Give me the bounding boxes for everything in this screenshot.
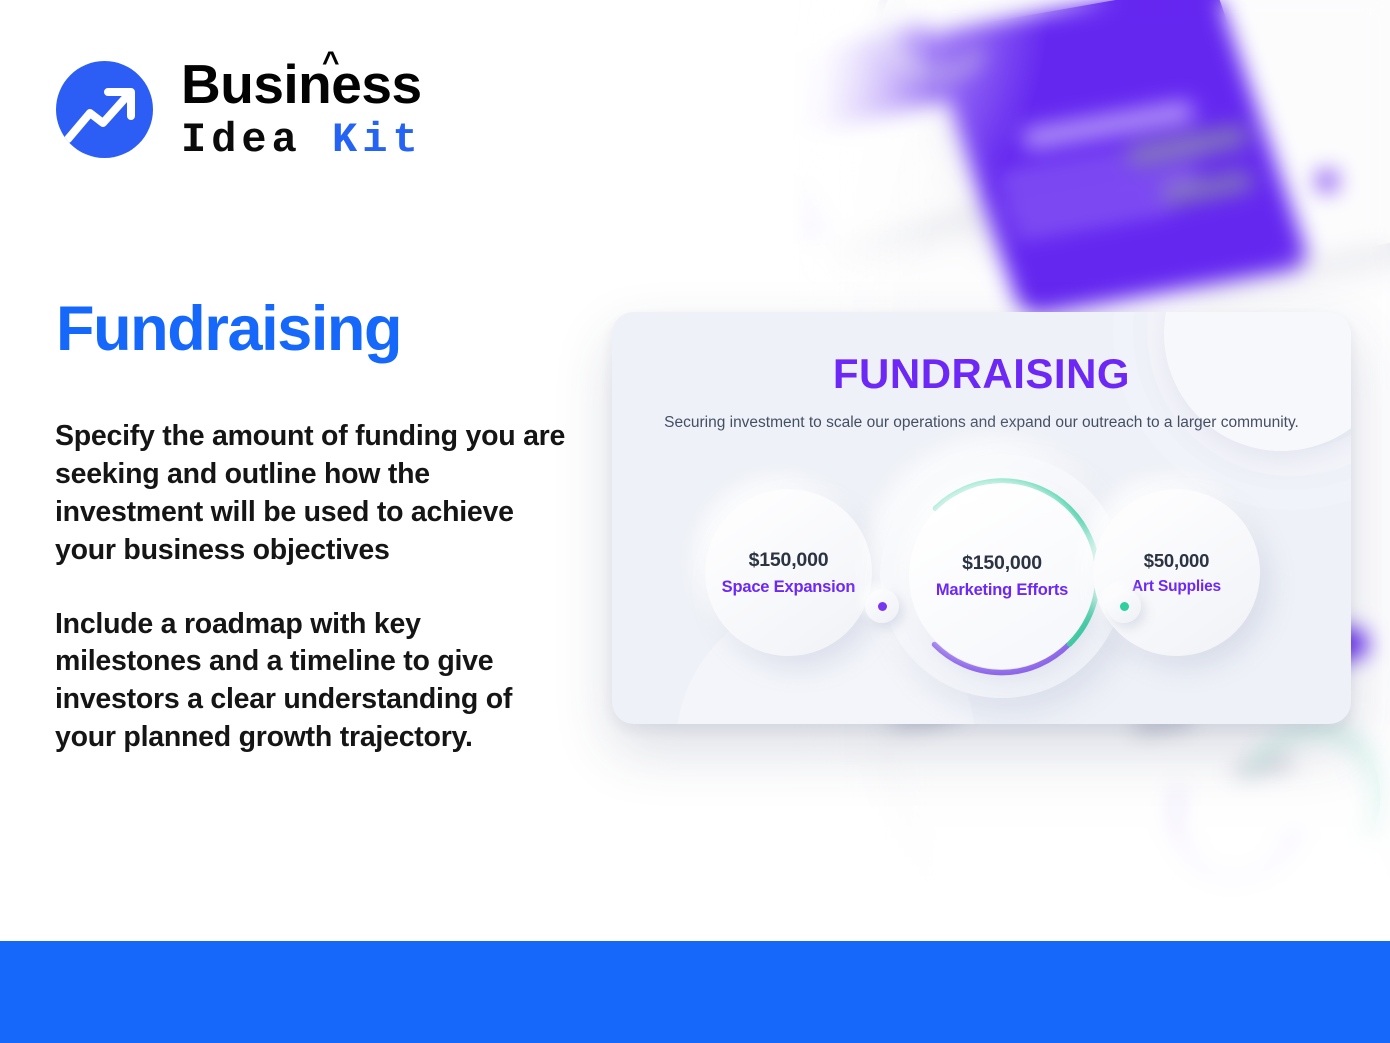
funding-label: Marketing Efforts	[936, 581, 1068, 600]
funding-item-right[interactable]: $50,000 Art Supplies	[1093, 489, 1260, 656]
brand-name-top: Business ^	[181, 57, 423, 112]
brand-name-kit: Kit	[332, 116, 423, 164]
funding-amount: $150,000	[962, 552, 1042, 575]
funding-amount: $150,000	[749, 549, 829, 572]
connector-node-left	[865, 589, 899, 623]
page-title: Fundraising	[56, 296, 401, 362]
brand-name-bottom: Idea Kit	[181, 119, 423, 161]
slide-page: Business ^ Idea Kit Fundraising Specify …	[0, 0, 1390, 1043]
funding-item-center[interactable]: $150,000 Marketing Efforts	[880, 454, 1124, 698]
paragraph-1: Specify the amount of funding you are se…	[55, 418, 567, 570]
paragraph-2: Include a roadmap with key milestones an…	[55, 606, 567, 758]
fundraising-card: FUNDRAISING Securing investment to scale…	[612, 312, 1351, 724]
brand-wordmark: Business ^ Idea Kit	[181, 57, 423, 161]
brand-logo[interactable]: Business ^ Idea Kit	[56, 57, 423, 161]
card-title: FUNDRAISING	[612, 350, 1351, 398]
funding-item-left[interactable]: $150,000 Space Expansion	[705, 489, 872, 656]
funding-label: Space Expansion	[722, 578, 856, 597]
panel-topleft-fade	[793, 0, 1053, 300]
brand-name-top-text: Business	[181, 53, 422, 115]
center-circle-inner: $150,000 Marketing Efforts	[909, 483, 1095, 669]
body-copy: Specify the amount of funding you are se…	[55, 418, 567, 757]
footer-bar	[0, 941, 1390, 1043]
funding-breakdown-diagram: $150,000 Space Expansion $150,000 Market…	[612, 467, 1351, 702]
brand-caret-accent: ^	[322, 48, 339, 78]
connector-node-right	[1107, 589, 1141, 623]
funding-amount: $50,000	[1144, 550, 1209, 572]
node-dot-purple	[878, 602, 887, 611]
funding-label: Art Supplies	[1132, 578, 1221, 596]
trending-up-arrow-icon	[56, 61, 153, 158]
card-subtitle: Securing investment to scale our operati…	[612, 412, 1351, 433]
brand-name-idea: Idea	[181, 116, 332, 164]
node-dot-green	[1120, 602, 1129, 611]
